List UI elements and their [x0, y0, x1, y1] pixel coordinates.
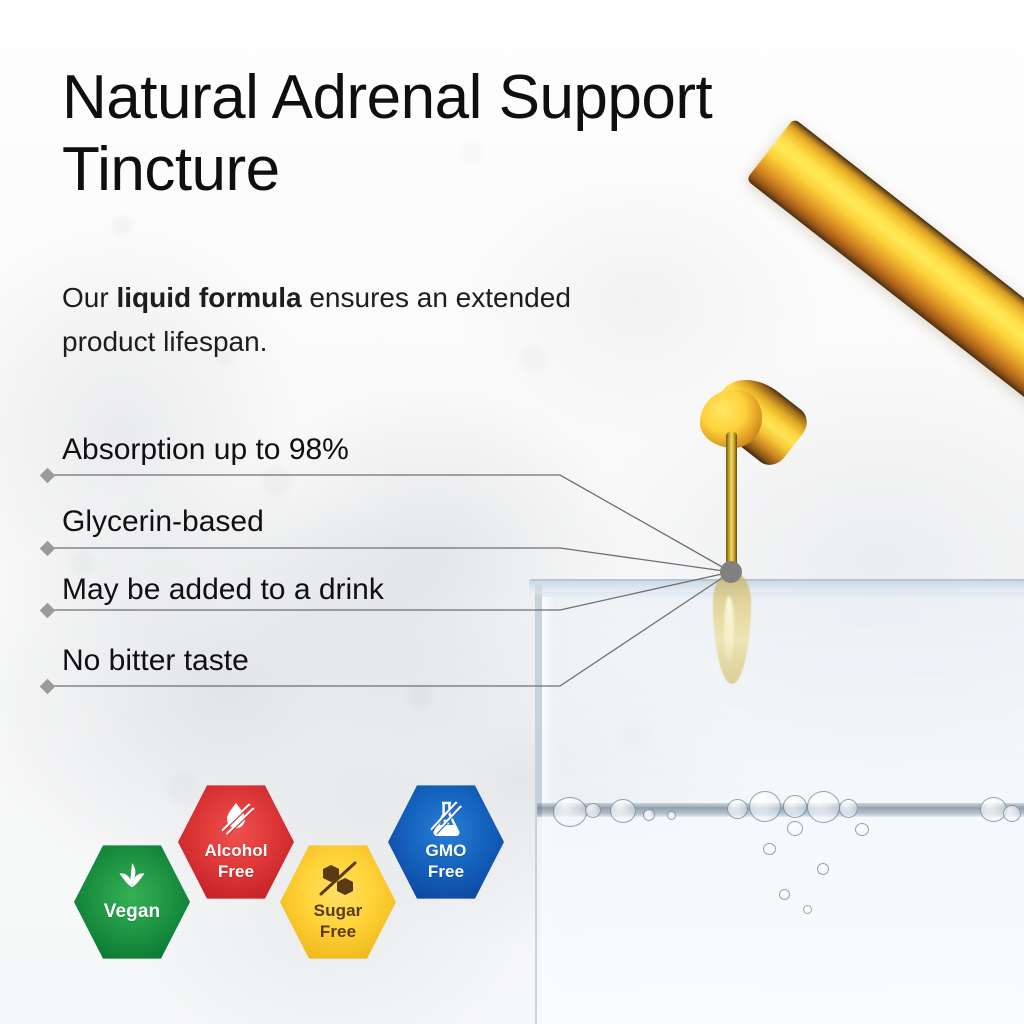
- feature-label-absorption: Absorption up to 98%: [62, 433, 349, 467]
- feature-label-add-to-drink: May be added to a drink: [62, 573, 384, 607]
- leaf-icon: [112, 859, 152, 899]
- feature-label-glycerin: Glycerin-based: [62, 505, 264, 539]
- product-infographic: Natural Adrenal Support Tincture Our liq…: [0, 0, 1024, 1024]
- badge-sugar-free-label-2: Free: [320, 923, 356, 941]
- badge-gmo-free-label-1: GMO: [426, 842, 467, 860]
- leader-hub-dot: [720, 561, 742, 583]
- badge-gmo-free-label-2: Free: [428, 863, 464, 881]
- badge-vegan-label: Vegan: [104, 902, 160, 922]
- badge-sugar-free-label-1: Sugar: [314, 902, 363, 920]
- feature-label-no-bitter-taste: No bitter taste: [62, 644, 249, 678]
- no-flask-icon: [426, 799, 466, 839]
- no-droplet-icon: [216, 799, 256, 839]
- no-sugar-cube-icon: [317, 859, 359, 899]
- badge-alcohol-free-label-1: Alcohol: [204, 842, 267, 860]
- badge-alcohol-free-label-2: Free: [218, 863, 254, 881]
